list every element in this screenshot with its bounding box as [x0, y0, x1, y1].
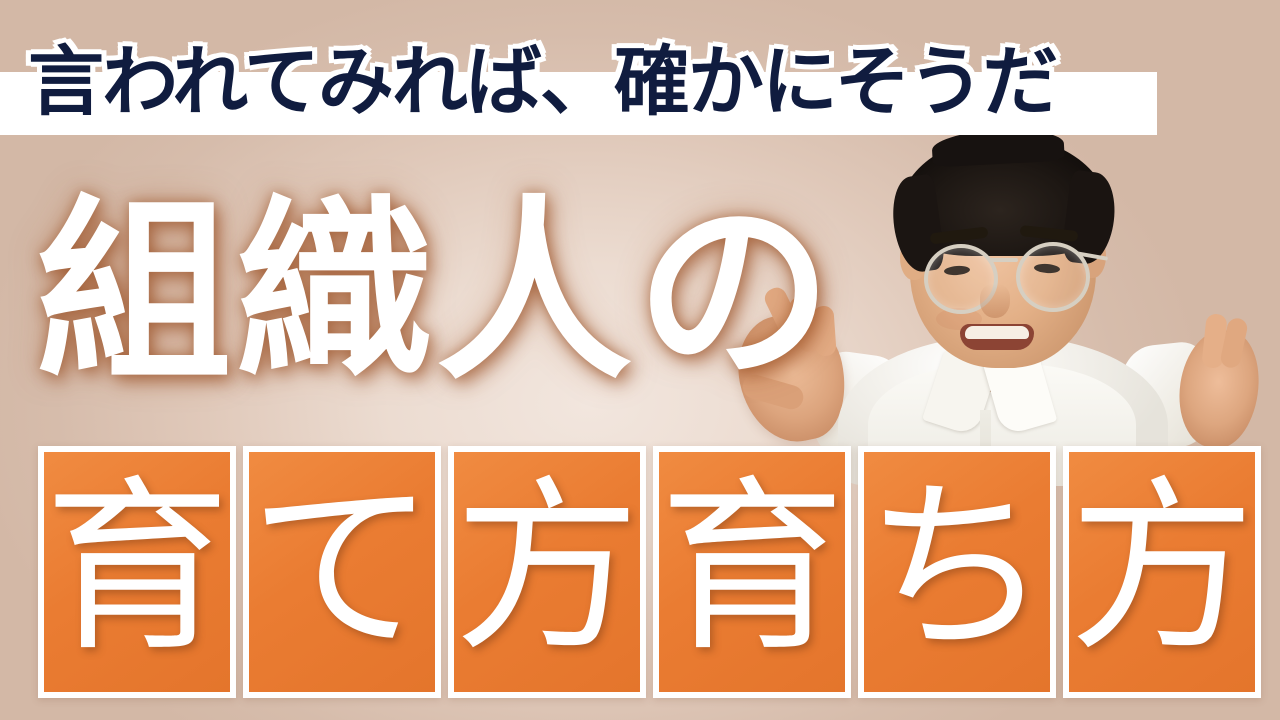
glasses-bridge	[988, 258, 1018, 262]
kanji-box-inner: 育	[44, 452, 230, 692]
kanji-box: 方	[1063, 446, 1261, 698]
thumbnail-canvas: 言われてみれば、確かにそうだ 組織人の 育 て 方 育 ち	[0, 0, 1280, 720]
headline-text: 組織人の	[36, 178, 856, 408]
kanji-char: 方	[454, 475, 640, 661]
kanji-char: 育	[659, 475, 845, 661]
kanji-box: ち	[858, 446, 1056, 698]
kanji-box-inner: 方	[1069, 452, 1255, 692]
kanji-box: 方	[448, 446, 646, 698]
kanji-char: 育	[44, 475, 230, 661]
kanji-box-inner: 育	[659, 452, 845, 692]
kanji-char: ち	[864, 475, 1050, 661]
teeth	[965, 326, 1029, 339]
kanji-box-inner: 方	[454, 452, 640, 692]
kanji-box-row: 育 て 方 育 ち 方	[38, 446, 1242, 698]
kanji-char: て	[249, 475, 435, 661]
kanji-box: 育	[653, 446, 851, 698]
kanji-char: 方	[1069, 475, 1255, 661]
kanji-box-inner: ち	[864, 452, 1050, 692]
kanji-box: 育	[38, 446, 236, 698]
mouth	[960, 324, 1034, 350]
kanji-box-inner: て	[249, 452, 435, 692]
nose	[980, 284, 1010, 318]
catchphrase-text: 言われてみれば、確かにそうだ	[0, 22, 1160, 142]
kanji-box: て	[243, 446, 441, 698]
